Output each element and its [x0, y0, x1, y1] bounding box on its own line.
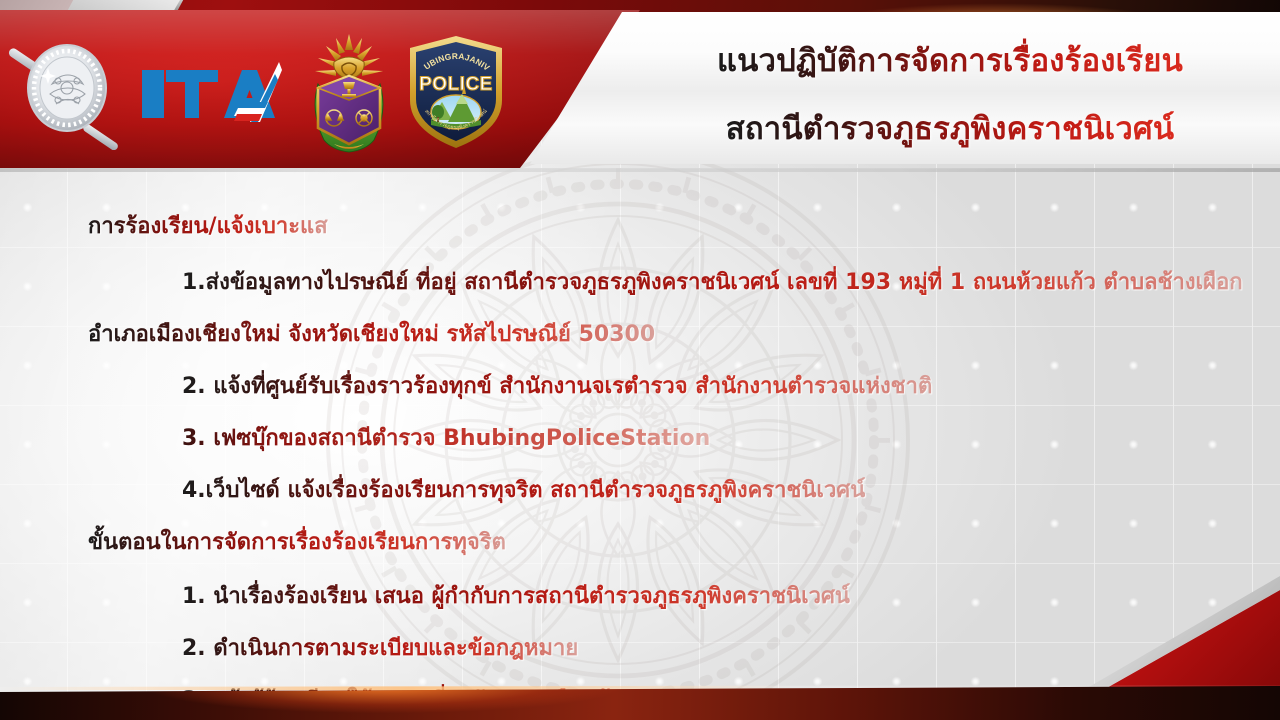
section2-heading: ขั้นตอนในการจัดการเรื่องร้องเรียนการทุจร… — [88, 524, 506, 559]
section1-item-3: 3. เฟซบุ๊กของสถานีตำรวจ BhubingPoliceSta… — [182, 420, 710, 455]
royal-thai-police-emblem — [296, 28, 402, 158]
section2-item-2: 2. ดำเนินการตามระเบียบและข้อกฎหมาย — [182, 630, 578, 665]
logo-row: BHUBINGRAJANIVEJ POLICE — [0, 18, 520, 158]
slide-body: การร้องเรียน/แจ้งเบาะแส 1.ส่งข้อมูลทางไป… — [0, 176, 1280, 676]
section1-heading: การร้องเรียน/แจ้งเบาะแส — [88, 208, 328, 243]
section1-item-1-cont: อำเภอเมืองเชียงใหม่ จังหวัดเชียงใหม่ รหั… — [88, 316, 655, 351]
section1-item-1: 1.ส่งข้อมูลทางไปรษณีย์ ที่อยู่ สถานีตำรว… — [182, 264, 1243, 299]
section1-item-2: 2. แจ้งที่ศูนย์รับเรื่องราวร้องทุกข์ สำน… — [182, 368, 932, 403]
diamond-brooch-logo — [8, 26, 126, 150]
header-separator — [0, 168, 1280, 172]
title-line-2: สถานีตำรวจภูธรภูพิงคราชนิเวศน์ — [726, 103, 1175, 153]
header-title: แนวปฏิบัติการจัดการเรื่องร้องเรียน สถานี… — [640, 34, 1260, 154]
bhubing-police-badge: BHUBINGRAJANIVEJ POLICE — [404, 32, 508, 152]
ita-logo — [138, 58, 286, 130]
slide-root: BHUBINGRAJANIVEJ POLICE — [0, 0, 1280, 720]
title-line-1: แนวปฏิบัติการจัดการเรื่องร้องเรียน — [717, 35, 1183, 85]
badge-police-text: POLICE — [419, 74, 493, 95]
section2-item-1: 1. นำเรื่องร้องเรียน เสนอ ผู้กำกับการสถา… — [182, 578, 850, 613]
section1-item-4: 4.เว็บไซด์ แจ้งเรื่องร้องเรียนการทุจริต … — [182, 472, 865, 507]
